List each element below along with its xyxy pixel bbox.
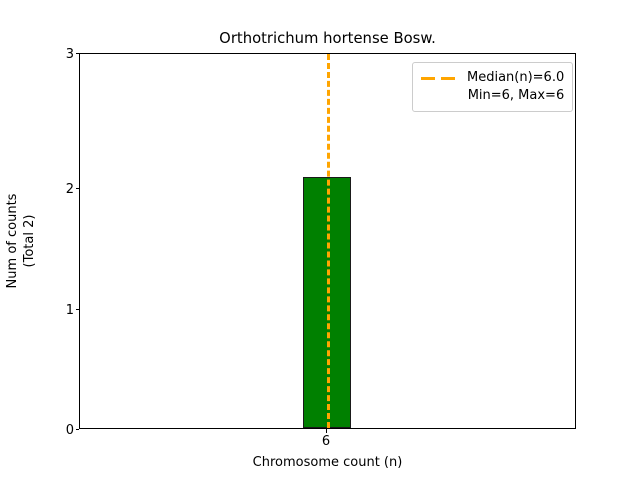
chart-figure: Orthotrichum hortense Bosw. 0 1 2 3 6 Ch… xyxy=(0,0,640,480)
chart-title: Orthotrichum hortense Bosw. xyxy=(79,30,576,48)
median-line xyxy=(327,54,330,428)
y-axis-label-wrap: Num of counts (Total 2) xyxy=(0,53,42,429)
legend-entry-median: Median(n)=6.0 xyxy=(421,69,564,87)
y-axis-label-line1: Num of counts xyxy=(5,194,20,289)
y-tick-label-3: 3 xyxy=(66,48,74,61)
dashed-line-icon xyxy=(421,72,459,84)
legend-entry-minmax: Min=6, Max=6 xyxy=(421,87,564,105)
y-tick-label-1: 1 xyxy=(66,304,74,317)
legend-key-blank xyxy=(421,90,459,102)
y-tick-label-2: 2 xyxy=(66,183,74,196)
x-axis-label: Chromosome count (n) xyxy=(79,455,576,470)
x-tick-mark-6 xyxy=(326,429,327,433)
legend-label-minmax: Min=6, Max=6 xyxy=(467,88,564,104)
y-tick-mark-0 xyxy=(76,429,80,430)
chart-legend: Median(n)=6.0 Min=6, Max=6 xyxy=(412,62,573,112)
y-axis-label: Num of counts (Total 2) xyxy=(4,194,38,289)
x-tick-label-6: 6 xyxy=(322,435,330,448)
y-axis-label-line2: (Total 2) xyxy=(21,194,38,289)
legend-label-median: Median(n)=6.0 xyxy=(467,70,564,86)
y-tick-label-0: 0 xyxy=(66,424,74,437)
